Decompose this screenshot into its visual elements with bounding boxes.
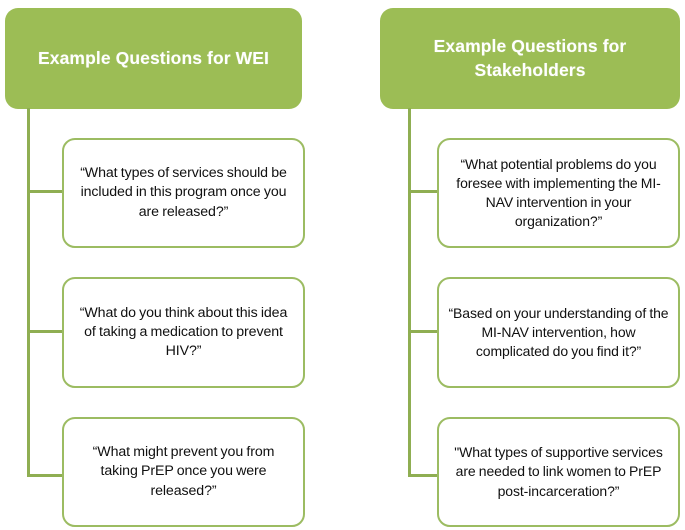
question-box-wei-3[interactable]: “What might prevent you from taking PrEP… — [62, 417, 305, 527]
question-text-wei-3: “What might prevent you from taking PrEP… — [73, 443, 294, 501]
question-box-wei-2[interactable]: “What do you think about this idea of ta… — [62, 277, 305, 388]
header-box-stakeholders[interactable]: Example Questions for Stakeholders — [380, 8, 680, 109]
question-text-stakeholders-3: "What types of supportive services are n… — [448, 443, 669, 500]
connector-trunk-wei — [27, 108, 30, 477]
connector-stub-stakeholders-1 — [408, 190, 439, 193]
column-stakeholders: Example Questions for Stakeholders “What… — [375, 0, 685, 530]
question-box-stakeholders-3[interactable]: "What types of supportive services are n… — [437, 417, 680, 527]
question-text-stakeholders-2: “Based on your understanding of the MI-N… — [448, 304, 669, 361]
connector-stub-wei-3 — [27, 474, 64, 477]
question-flowchart: Example Questions for WEI “What types of… — [0, 0, 685, 530]
question-box-stakeholders-1[interactable]: “What potential problems do you foresee … — [437, 138, 680, 248]
header-label-wei: Example Questions for WEI — [38, 47, 269, 70]
header-box-wei[interactable]: Example Questions for WEI — [5, 8, 302, 109]
column-wei: Example Questions for WEI “What types of… — [0, 0, 340, 530]
question-text-wei-1: “What types of services should be includ… — [73, 164, 294, 222]
question-text-wei-2: “What do you think about this idea of ta… — [73, 304, 294, 362]
connector-stub-wei-2 — [27, 330, 64, 333]
connector-stub-wei-1 — [27, 190, 64, 193]
connector-trunk-stakeholders — [408, 108, 411, 477]
header-label-stakeholders: Example Questions for Stakeholders — [390, 35, 670, 81]
question-text-stakeholders-1: “What potential problems do you foresee … — [448, 155, 669, 231]
question-box-wei-1[interactable]: “What types of services should be includ… — [62, 138, 305, 248]
connector-stub-stakeholders-2 — [408, 330, 439, 333]
question-box-stakeholders-2[interactable]: “Based on your understanding of the MI-N… — [437, 277, 680, 388]
connector-stub-stakeholders-3 — [408, 474, 439, 477]
